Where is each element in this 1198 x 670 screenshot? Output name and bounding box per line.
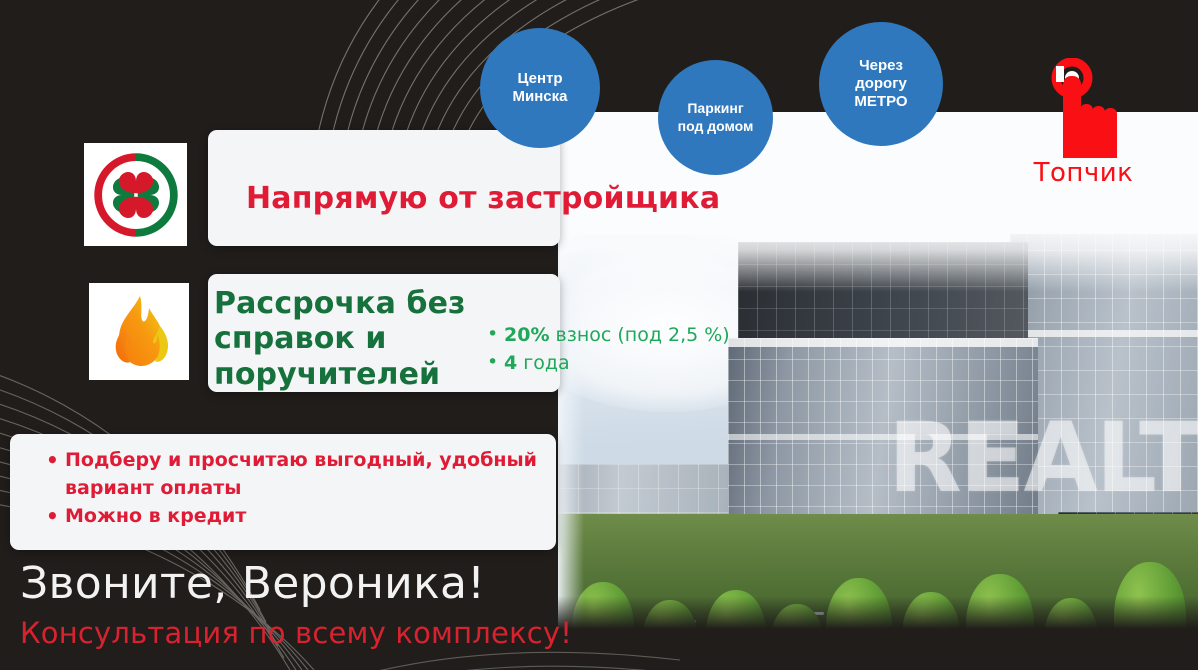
list-item: 20% взнос (под 2,5 %) xyxy=(487,322,730,350)
benefits-list: Подберу и просчитаю выгодный, удобный ва… xyxy=(46,447,546,531)
cta-subtitle: Консультация по всему комплексу! xyxy=(20,616,572,650)
feature-circle-line2: Минска xyxy=(513,88,568,106)
feature-circle-parking: Паркинг под домом xyxy=(658,60,773,175)
clover-icon-tile xyxy=(84,143,187,246)
feature-circle-line1: Центр xyxy=(513,70,568,88)
list-item: 4 года xyxy=(487,350,730,378)
pointing-hand-icon xyxy=(1016,58,1151,158)
flame-icon-tile xyxy=(89,283,189,380)
realt-watermark: REALT xyxy=(888,402,1198,514)
installment-terms-list: 20% взнос (под 2,5 %) 4 года xyxy=(487,322,730,377)
feature-circle-line2: дорогу xyxy=(854,75,907,93)
photo-bottom-fade xyxy=(558,596,1198,632)
four-leaf-clover-icon xyxy=(93,152,179,238)
installment-term-text: взнос (под 2,5 %) xyxy=(549,324,729,346)
feature-circle-line3: МЕТРО xyxy=(854,93,907,111)
list-item: Можно в кредит xyxy=(46,503,546,531)
advertising-banner: REALT Напрямую от застройщика Рассрочка … xyxy=(0,0,1198,670)
feature-circle-metro: Через дорогу МЕТРО xyxy=(819,22,943,146)
cta-title: Звоните, Вероника! xyxy=(20,558,485,609)
feature-circle-line1: Паркинг xyxy=(678,100,754,117)
installment-term-value: 4 xyxy=(504,352,517,374)
topchik-label: Топчик xyxy=(1016,160,1151,186)
page-title: Напрямую от застройщика xyxy=(246,181,720,216)
feature-circle-line2: под домом xyxy=(678,118,754,135)
topchik-badge: Топчик xyxy=(1016,58,1151,186)
feature-circle-line1: Через xyxy=(854,57,907,75)
installment-term-value: 20% xyxy=(504,324,549,346)
installment-term-text: года xyxy=(517,352,569,374)
flame-icon xyxy=(102,292,176,372)
top-white-band-fade xyxy=(560,222,1198,292)
feature-circle-city-center: Центр Минска xyxy=(480,28,600,148)
list-item: Подберу и просчитаю выгодный, удобный ва… xyxy=(46,447,546,503)
